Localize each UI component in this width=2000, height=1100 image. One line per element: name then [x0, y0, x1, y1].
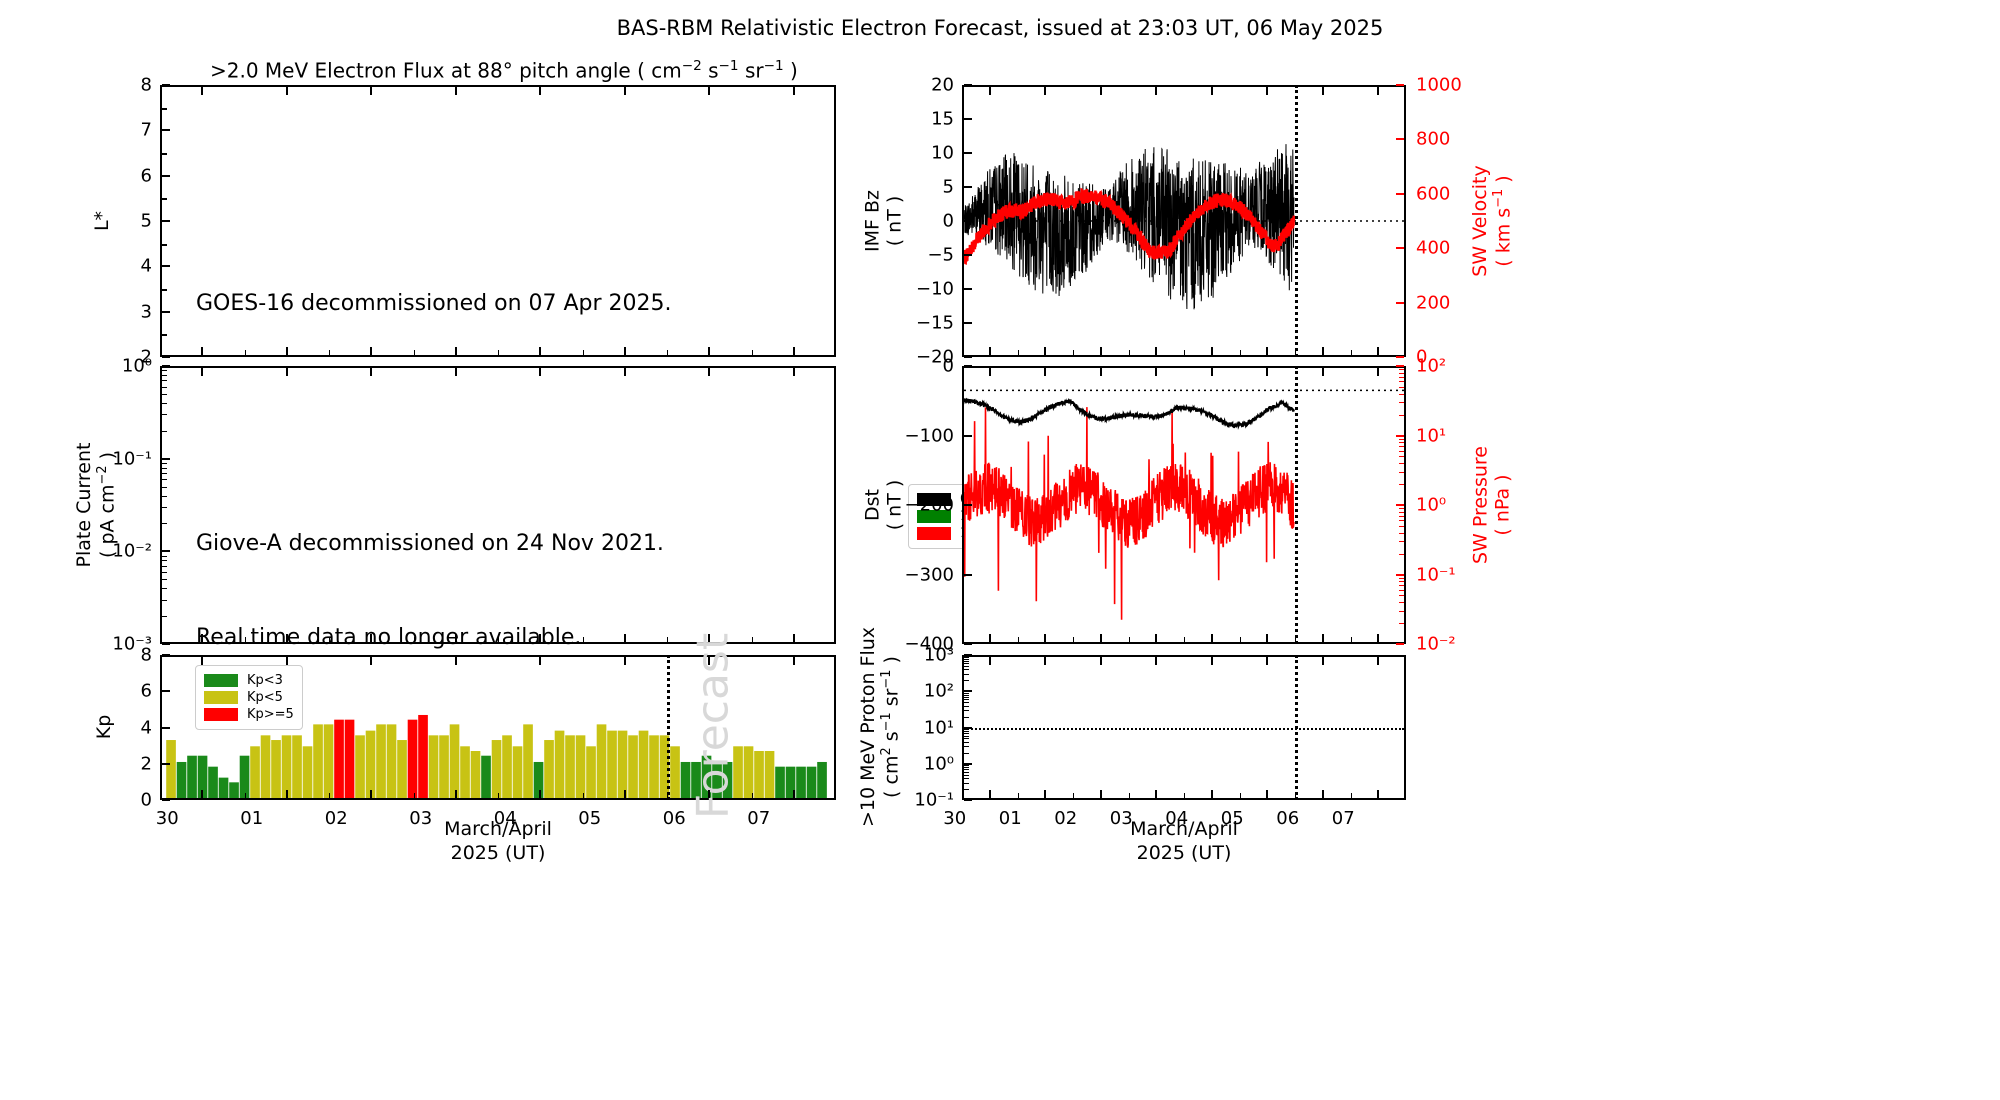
- dst-xminor: [1184, 637, 1185, 642]
- plate-y-minor-tick: [162, 487, 167, 488]
- plate-xtick-top-1: [286, 368, 288, 376]
- lstar-xtick-top-4: [539, 87, 541, 95]
- swpres-y-minor-tick: [1399, 387, 1404, 388]
- imf-y-tick-8: [964, 356, 972, 358]
- kp-bar: [817, 762, 827, 798]
- kp-xminor: [583, 793, 584, 798]
- proton-xtick-top-0: [989, 657, 991, 665]
- kp-xtick-label-5: 05: [555, 808, 625, 829]
- lstar-y-tick-label-5: 3: [64, 301, 152, 322]
- imf-xtick-top-0: [989, 87, 991, 95]
- proton-xtick-4: [1211, 790, 1213, 798]
- proton-xtick-2: [1100, 790, 1102, 798]
- swpres-y-minor-tick: [1399, 451, 1404, 452]
- kp-bar: [796, 767, 806, 798]
- lstar-xminor: [667, 350, 668, 355]
- plate-y-minor-tick: [162, 566, 167, 567]
- proton-xtick-7: [1377, 790, 1379, 798]
- dst-xminor: [1073, 637, 1074, 642]
- plate-xtick-2: [370, 634, 372, 642]
- plate-xminor: [329, 637, 330, 642]
- kp-xtick-top-0: [201, 657, 203, 665]
- swpres-y-minor-tick: [1399, 541, 1404, 542]
- swpres-y-tick-label-4: 10⁻²: [1416, 634, 1506, 655]
- plate-xtick-top-2: [370, 368, 372, 376]
- subtitle-sr: sr: [739, 59, 764, 83]
- kp-xtick-7: [793, 790, 795, 798]
- dst-forecast-divider: [1295, 366, 1298, 644]
- kp-xtick-0: [201, 790, 203, 798]
- proton-xtick-top-3: [1155, 657, 1157, 665]
- lstar-xtick-1: [286, 347, 288, 355]
- kp-bar: [324, 724, 334, 798]
- kp-bar: [765, 751, 775, 798]
- dst-xtick-top-7: [1377, 368, 1379, 376]
- swpres-y-minor-tick: [1399, 394, 1404, 395]
- lstar-y-tick-label-4: 4: [64, 256, 152, 277]
- imf-xtick-top-4: [1211, 87, 1213, 95]
- flux-subtitle: >2.0 MeV Electron Flux at 88° pitch angl…: [210, 58, 798, 83]
- lstar-xtick-top-7: [793, 87, 795, 95]
- plate-xminor: [667, 637, 668, 642]
- plate-y-axis-label: Plate Current( pA cm−2 ): [73, 375, 119, 635]
- dst-xminor: [1295, 637, 1296, 642]
- dst-trace: [964, 399, 1294, 428]
- proton-y-minor-tick: [964, 765, 969, 766]
- legend-swatch-icon: [917, 527, 951, 540]
- proton-xtick-3: [1155, 790, 1157, 798]
- dst-xminor: [1351, 637, 1352, 642]
- plate-xminor: [414, 637, 415, 642]
- kp-xtick-label-1: 01: [217, 808, 287, 829]
- dst-y-tick-label-3: −300: [866, 564, 954, 585]
- swpres-y-minor-tick: [1399, 602, 1404, 603]
- kp-bar: [628, 735, 638, 798]
- legend-label: Kp<5: [247, 690, 283, 705]
- swvel-y-tick-label-0: 1000: [1416, 75, 1506, 96]
- proton-y-minor-tick: [964, 659, 969, 660]
- imf-xminor: [1295, 350, 1296, 355]
- swpres-y-minor-tick: [1399, 526, 1404, 527]
- imf-xtick-4: [1211, 347, 1213, 355]
- plate-y-minor-tick: [162, 387, 167, 388]
- kp-xtick-top-4: [539, 657, 541, 665]
- proton-y-minor-tick: [964, 674, 969, 675]
- subtitle-s: s: [702, 59, 719, 83]
- kp-y-tick-0: [162, 654, 170, 656]
- dst-xtick-top-4: [1211, 368, 1213, 376]
- lstar-xtick-top-3: [455, 87, 457, 95]
- imf-xtick-0: [989, 347, 991, 355]
- dst-y-tick-2: [964, 504, 972, 506]
- plate-y-minor-tick: [162, 479, 167, 480]
- plate-y-minor-tick: [162, 463, 167, 464]
- proton-xlabel-line-2: 2025 (UT): [1137, 842, 1232, 864]
- kp-y-tick-3: [162, 763, 170, 765]
- imf-xtick-top-1: [1044, 87, 1046, 95]
- plate-xtick-top-6: [708, 368, 710, 376]
- plate-xtick-5: [624, 634, 626, 642]
- imf-y-tick-label-7: −15: [866, 313, 954, 334]
- proton-y-minor-tick: [964, 789, 969, 790]
- lstar-xtick-7: [793, 347, 795, 355]
- proton-y-tick-label-3: 10⁰: [866, 753, 954, 774]
- kp-bar: [523, 724, 533, 798]
- legend-swatch-icon: [204, 674, 238, 687]
- kp-xminor: [498, 793, 499, 798]
- kp-legend[interactable]: Kp<3Kp<5Kp>=5: [195, 665, 303, 730]
- lstar-xtick-4: [539, 347, 541, 355]
- proton-y-minor-tick: [964, 733, 969, 734]
- dst-xtick-4: [1211, 634, 1213, 642]
- subtitle-mid: pitch angle ( cm: [513, 59, 682, 83]
- kp-bar: [429, 735, 439, 798]
- kp-xtick-label-3: 03: [386, 808, 456, 829]
- plate-y-minor-tick: [162, 370, 167, 371]
- plate-xtick-top-7: [793, 368, 795, 376]
- swpres-y-minor-tick: [1399, 611, 1404, 612]
- kp-xminor: [414, 793, 415, 798]
- kp-bar: [282, 735, 292, 798]
- legend-item[interactable]: Kp<3: [204, 673, 294, 688]
- lstar-xtick-2: [370, 347, 372, 355]
- kp-y-tick-2: [162, 727, 170, 729]
- swvel-y-tick-5: [1396, 356, 1404, 358]
- lstar-xminor: [583, 350, 584, 355]
- lstar-y-tick-0: [162, 84, 170, 86]
- proton-y-minor-tick: [964, 680, 969, 681]
- plate-y-minor-tick: [162, 468, 167, 469]
- kp-bar: [355, 735, 365, 798]
- kp-bar: [460, 746, 470, 798]
- swpres-y-minor-tick: [1399, 439, 1404, 440]
- plate-xminor: [498, 637, 499, 642]
- kp-bar: [261, 735, 271, 798]
- lstar-y-tick-5: [162, 311, 170, 313]
- proton-y-minor-tick: [964, 717, 969, 718]
- plate-xminor: [583, 637, 584, 642]
- dst-y-tick-1: [964, 435, 972, 437]
- swpres-y-minor-tick: [1399, 463, 1404, 464]
- kp-bar: [597, 724, 607, 798]
- kp-bar: [313, 724, 323, 798]
- plate-message-line-1: Giove-A decommissioned on 24 Nov 2021.: [196, 528, 664, 559]
- proton-y-minor-tick: [964, 663, 969, 664]
- swvel-ylabel-line-1: SW Velocity: [1469, 165, 1491, 276]
- dst-y-tick-4: [964, 643, 972, 645]
- kp-bar: [303, 746, 313, 798]
- lstar-y-tick-1: [162, 129, 170, 131]
- imf-y-tick-0: [964, 84, 972, 86]
- imf-y-tick-1: [964, 118, 972, 120]
- subtitle-exp-2: −1: [719, 58, 739, 74]
- lstar-xtick-top-0: [201, 87, 203, 95]
- swpres-y-tick-label-2: 10⁰: [1416, 495, 1506, 516]
- imf-y-tick-label-2: 10: [866, 143, 954, 164]
- proton-y-minor-tick: [964, 697, 969, 698]
- swpres-y-minor-tick: [1399, 402, 1404, 403]
- imf-xtick-top-6: [1322, 87, 1324, 95]
- lstar-y-tick-label-1: 7: [64, 120, 152, 141]
- swpres-y-minor-tick: [1399, 554, 1404, 555]
- proton-y-minor-tick: [964, 699, 969, 700]
- lstar-y-tick-2: [162, 175, 170, 177]
- legend-item[interactable]: Kp>=5: [204, 707, 294, 722]
- lstar-y-minor-tick: [162, 198, 167, 200]
- kp-bar: [208, 767, 218, 798]
- dst-xminor: [1129, 637, 1130, 642]
- plate-y-tick-2: [162, 550, 170, 552]
- plate-y-minor-tick: [162, 616, 167, 617]
- swpres-y-minor-tick: [1399, 508, 1404, 509]
- kp-xlabel-line-2: 2025 (UT): [451, 842, 546, 864]
- imf-xtick-7: [1377, 347, 1379, 355]
- swvel-y-tick-1: [1396, 138, 1404, 140]
- lstar-xtick-top-6: [708, 87, 710, 95]
- legend-item[interactable]: Kp<5: [204, 690, 294, 705]
- kp-bar: [502, 735, 512, 798]
- proton-xtick-top-2: [1100, 657, 1102, 665]
- lstar-y-tick-3: [162, 220, 170, 222]
- imf-xtick-6: [1322, 347, 1324, 355]
- kp-y-tick-label-1: 6: [64, 681, 152, 702]
- legend-swatch-icon: [204, 691, 238, 704]
- plate-xtick-top-0: [201, 368, 203, 376]
- kp-xtick-label-2: 02: [301, 808, 371, 829]
- figure-root: BAS-RBM Relativistic Electron Forecast, …: [0, 0, 2000, 1100]
- imf-xtick-1: [1044, 347, 1046, 355]
- swvel-y-tick-label-4: 200: [1416, 292, 1506, 313]
- imf-y-tick-label-4: 0: [866, 211, 954, 232]
- imf-y-tick-label-3: 5: [866, 177, 954, 198]
- plate-y-tick-label-0: 10⁰: [64, 356, 152, 377]
- proton-y-minor-tick: [964, 778, 969, 779]
- imf-xminor: [1184, 350, 1185, 355]
- lstar-xtick-top-1: [286, 87, 288, 95]
- swpres-y-minor-tick: [1399, 585, 1404, 586]
- imf-y-tick-label-6: −10: [866, 279, 954, 300]
- lstar-y-minor-tick: [162, 334, 167, 336]
- kp-xtick-top-3: [455, 657, 457, 665]
- lstar-xtick-0: [201, 347, 203, 355]
- legend-label: Kp<3: [247, 673, 283, 688]
- plate-xtick-top-3: [455, 368, 457, 376]
- swpres-y-tick-1: [1396, 435, 1404, 437]
- dst-xtick-top-6: [1322, 368, 1324, 376]
- figure-title: BAS-RBM Relativistic Electron Forecast, …: [0, 16, 2000, 40]
- kp-bar: [439, 735, 449, 798]
- swvel-y-tick-2: [1396, 193, 1404, 195]
- dst-xtick-0: [989, 634, 991, 642]
- imf-xtick-5: [1266, 347, 1268, 355]
- swpres-y-minor-tick: [1399, 623, 1404, 624]
- sw-velocity-y-axis-label: SW Velocity( km s−1 ): [1469, 126, 1515, 316]
- proton-xminor: [1351, 793, 1352, 798]
- swvel-y-tick-0: [1396, 84, 1404, 86]
- proton-y-minor-tick: [964, 783, 969, 784]
- dst-xtick-2: [1100, 634, 1102, 642]
- swpres-y-minor-tick: [1399, 595, 1404, 596]
- kp-bar: [334, 720, 344, 798]
- dst-xtick-top-0: [989, 368, 991, 376]
- swvel-y-tick-label-3: 400: [1416, 238, 1506, 259]
- lstar-y-minor-tick: [162, 244, 167, 246]
- lstar-xtick-top-2: [370, 87, 372, 95]
- imf-xtick-2: [1100, 347, 1102, 355]
- plate-y-minor-tick: [162, 523, 167, 524]
- kp-bar: [565, 735, 575, 798]
- imf-xtick-top-7: [1377, 87, 1379, 95]
- kp-bar: [187, 756, 197, 798]
- lstar-y-tick-6: [162, 356, 170, 358]
- imf-xminor: [1351, 350, 1352, 355]
- kp-bar: [544, 740, 554, 798]
- plate-y-minor-tick: [162, 572, 167, 573]
- dst-xtick-top-5: [1266, 368, 1268, 376]
- kp-bar: [555, 731, 565, 798]
- swpres-y-tick-4: [1396, 643, 1404, 645]
- subtitle-exp-3: −1: [764, 58, 784, 74]
- swpres-y-tick-2: [1396, 504, 1404, 506]
- kp-bar: [744, 746, 754, 798]
- proton-xminor: [1295, 793, 1296, 798]
- dst-xtick-top-1: [1044, 368, 1046, 376]
- lstar-xminor: [414, 350, 415, 355]
- kp-bar: [807, 767, 817, 798]
- proton-y-minor-tick: [964, 661, 969, 662]
- lstar-xtick-6: [708, 347, 710, 355]
- kp-xtick-6: [708, 790, 710, 798]
- swpres-y-minor-tick: [1399, 578, 1404, 579]
- kp-y-tick-1: [162, 690, 170, 692]
- swpres-y-minor-tick: [1399, 381, 1404, 382]
- proton-y-minor-tick: [964, 738, 969, 739]
- swvel-y-tick-label-1: 800: [1416, 129, 1506, 150]
- plate-message-line-2: Real time data no longer available.: [196, 622, 664, 653]
- kp-xtick-top-2: [370, 657, 372, 665]
- kp-y-tick-label-0: 8: [64, 645, 152, 666]
- dst-and-sw-pressure-traces: [964, 368, 1404, 642]
- kp-bar: [387, 724, 397, 798]
- dst-xtick-top-2: [1100, 368, 1102, 376]
- kp-xtick-top-1: [286, 657, 288, 665]
- proton-y-minor-tick: [964, 746, 969, 747]
- kp-bar: [376, 724, 386, 798]
- sw-pressure-trace: [964, 407, 1294, 620]
- kp-bar: [250, 746, 260, 798]
- lstar-y-minor-tick: [162, 153, 167, 155]
- lstar-xtick-5: [624, 347, 626, 355]
- lstar-y-tick-label-3: 5: [64, 211, 152, 232]
- swvel-y-tick-3: [1396, 247, 1404, 249]
- dst-xminor: [1240, 637, 1241, 642]
- swvel-y-tick-label-2: 600: [1416, 183, 1506, 204]
- proton-xtick-1: [1044, 790, 1046, 798]
- proton-y-minor-tick: [964, 731, 969, 732]
- plate-y-minor-tick: [162, 579, 167, 580]
- kp-bar: [366, 731, 376, 798]
- proton-xtick-top-1: [1044, 657, 1046, 665]
- proton-xtick-top-6: [1322, 657, 1324, 665]
- proton-y-minor-tick: [964, 767, 969, 768]
- proton-y-minor-tick: [964, 657, 969, 658]
- kp-bar: [754, 751, 764, 798]
- lstar-xminor: [245, 350, 246, 355]
- swpres-y-tick-0: [1396, 365, 1404, 367]
- kp-bar: [775, 767, 785, 798]
- subtitle-exp-1: −2: [682, 58, 702, 74]
- kp-xtick-label-4: 04: [470, 808, 540, 829]
- degree-symbol: °: [503, 59, 513, 83]
- kp-bar: [397, 740, 407, 798]
- dst-y-tick-label-1: −100: [866, 425, 954, 446]
- dst-xminor: [1018, 637, 1019, 642]
- kp-forecast-divider: [667, 655, 670, 800]
- proton-xtick-top-4: [1211, 657, 1213, 665]
- swpres-y-minor-tick: [1399, 415, 1404, 416]
- imf-y-tick-label-1: 15: [866, 109, 954, 130]
- lstar-xminor: [752, 350, 753, 355]
- kp-bar: [576, 735, 586, 798]
- forecast-watermark: Forecast: [688, 633, 739, 819]
- proton-y-minor-tick: [964, 772, 969, 773]
- proton-xtick-0: [989, 790, 991, 798]
- lstar-y-minor-tick: [162, 108, 167, 110]
- plate-y-minor-tick: [162, 394, 167, 395]
- kp-bar: [607, 731, 617, 798]
- imf-y-tick-label-0: 20: [866, 75, 954, 96]
- imf-xminor: [1240, 350, 1241, 355]
- lstar-message-line-1: GOES-16 decommissioned on 07 Apr 2025.: [196, 288, 672, 319]
- lstar-y-minor-tick: [162, 289, 167, 291]
- plate-y-minor-tick: [162, 507, 167, 508]
- plate-xtick-0: [201, 634, 203, 642]
- plate-xtick-top-4: [539, 368, 541, 376]
- subtitle-end: ): [784, 59, 798, 83]
- imf-forecast-divider: [1295, 85, 1298, 357]
- dst-y-tick-0: [964, 365, 972, 367]
- swpres-y-minor-tick: [1399, 590, 1404, 591]
- dst-xtick-5: [1266, 634, 1268, 642]
- kp-y-tick-label-3: 2: [64, 753, 152, 774]
- proton-y-minor-tick: [964, 695, 969, 696]
- proton-xtick-label-7: 07: [1308, 808, 1378, 829]
- kp-bar: [492, 740, 502, 798]
- kp-y-tick-label-2: 4: [64, 717, 152, 738]
- imf-bz-and-sw-velocity-traces: [964, 87, 1404, 355]
- kp-bar: [292, 735, 302, 798]
- dst-y-tick-label-2: −200: [866, 495, 954, 516]
- swpres-y-minor-tick: [1399, 533, 1404, 534]
- proton-y-minor-tick: [964, 729, 969, 730]
- kp-bar: [639, 731, 649, 798]
- kp-bar: [481, 756, 491, 798]
- kp-xtick-top-7: [793, 657, 795, 665]
- swpres-y-minor-tick: [1399, 520, 1404, 521]
- plate-xminor: [752, 637, 753, 642]
- swpres-y-tick-label-3: 10⁻¹: [1416, 564, 1506, 585]
- imf-xminor: [1129, 350, 1130, 355]
- kp-bar: [649, 735, 659, 798]
- lstar-y-tick-label-2: 6: [64, 165, 152, 186]
- dst-xtick-1: [1044, 634, 1046, 642]
- imf-y-tick-label-5: −5: [866, 245, 954, 266]
- kp-bar: [513, 746, 523, 798]
- proton-xminor: [1073, 793, 1074, 798]
- legend-swatch-icon: [204, 708, 238, 721]
- proton-y-minor-tick: [964, 706, 969, 707]
- imf-y-tick-5: [964, 254, 972, 256]
